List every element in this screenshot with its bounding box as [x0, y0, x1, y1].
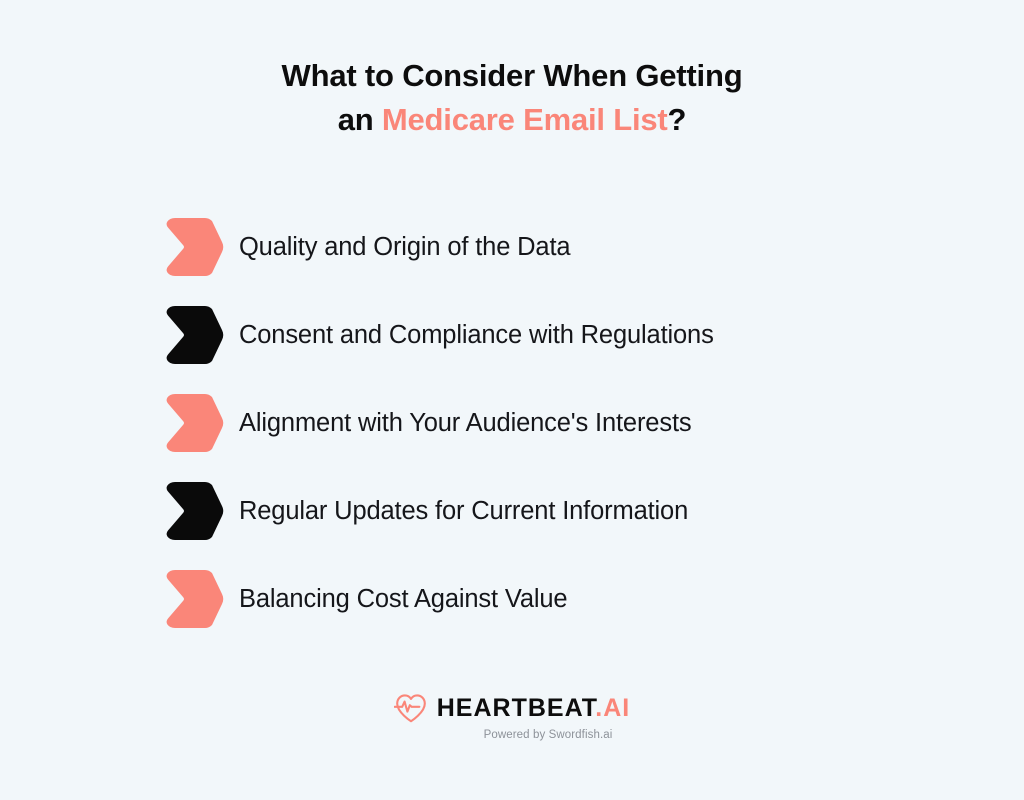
chevron-marker-icon	[164, 304, 225, 366]
list-item-label: Regular Updates for Current Information	[239, 496, 688, 526]
logo-row: HEARTBEAT.AI	[394, 692, 631, 724]
heart-pulse-icon	[394, 692, 428, 724]
list-item: Consent and Compliance with Regulations	[164, 304, 984, 366]
list-item: Balancing Cost Against Value	[164, 568, 984, 630]
infographic-page: { "theme": { "background": "#f2f7fa", "a…	[0, 0, 1024, 800]
chevron-marker-icon	[164, 392, 225, 454]
chevron-marker-icon	[164, 568, 225, 630]
chevron-marker-icon	[164, 480, 225, 542]
list-item-label: Consent and Compliance with Regulations	[239, 320, 714, 350]
list-item-label: Balancing Cost Against Value	[239, 584, 567, 614]
list-item: Quality and Origin of the Data	[164, 216, 984, 278]
logo-brand: HEARTBEAT	[437, 694, 596, 722]
brand-logo: HEARTBEAT.AI Powered by Swordfish.ai	[0, 692, 1024, 743]
title-line-2-prefix: an	[338, 102, 382, 137]
title-line-2-suffix: ?	[668, 102, 687, 137]
logo-wordmark: HEARTBEAT.AI	[437, 694, 631, 722]
chevron-marker-icon	[164, 216, 225, 278]
list-item: Alignment with Your Audience's Interests	[164, 392, 984, 454]
logo-tld: .AI	[595, 694, 630, 722]
logo-tagline: Powered by Swordfish.ai	[484, 727, 613, 743]
list-item: Regular Updates for Current Information	[164, 480, 984, 542]
list-item-label: Alignment with Your Audience's Interests	[239, 408, 691, 438]
list-item-label: Quality and Origin of the Data	[239, 232, 570, 262]
title-line-2: an Medicare Email List?	[0, 98, 1024, 142]
title-line-2-accent: Medicare Email List	[382, 102, 668, 137]
page-title: What to Consider When Getting an Medicar…	[0, 54, 1024, 142]
consideration-list: Quality and Origin of the Data Consent a…	[164, 216, 984, 630]
title-line-1: What to Consider When Getting	[0, 54, 1024, 98]
